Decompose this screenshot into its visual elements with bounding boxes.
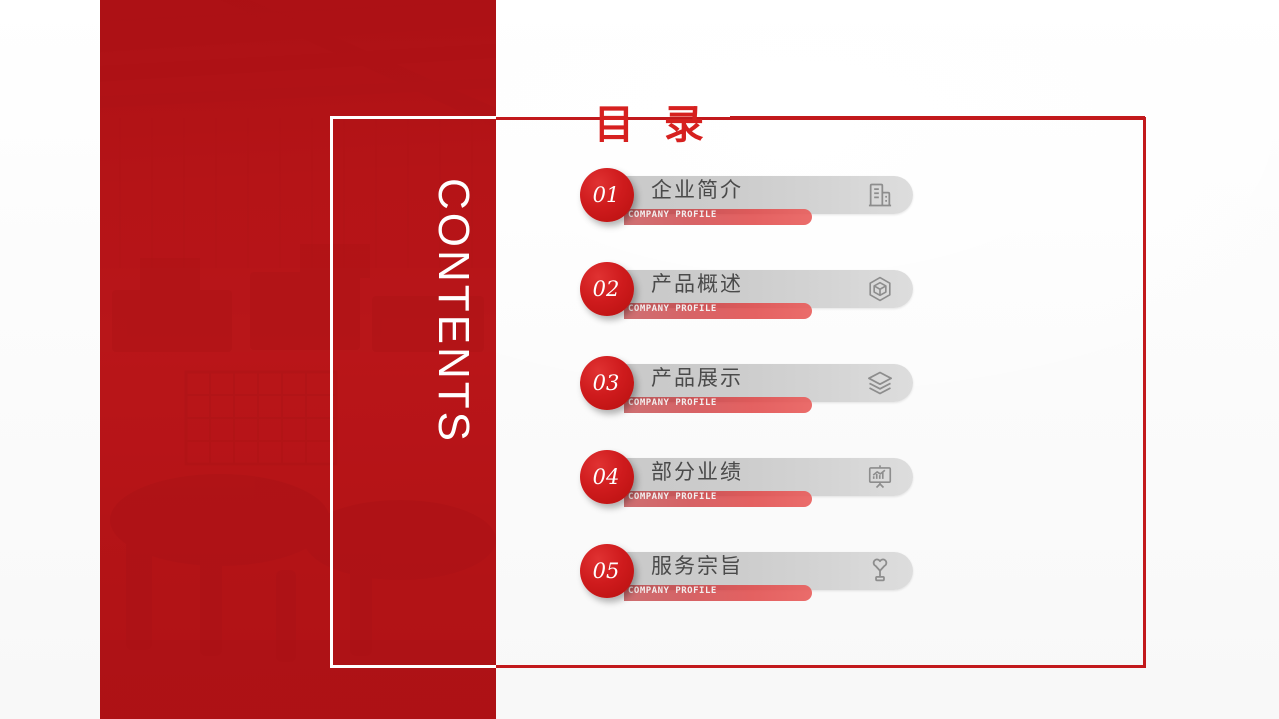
layers-icon	[866, 369, 894, 397]
list-item-number-badge: 02	[580, 262, 634, 316]
list-item-number: 04	[593, 465, 622, 489]
list-item-subtitle: COMPANY PROFILE	[628, 492, 717, 502]
list-item[interactable]: 产品展示 COMPANY PROFILE 03	[496, 356, 1279, 450]
list-item-number-badge: 05	[580, 544, 634, 598]
toc-list: 企业简介 COMPANY PROFILE 01	[496, 168, 1279, 638]
slide-canvas: CONTENTS 目 录 企业简介 COMPANY PROFILE	[0, 0, 1279, 719]
list-item[interactable]: 产品概述 COMPANY PROFILE 02	[496, 262, 1279, 356]
page-title: 目 录	[594, 92, 712, 150]
content-area: 目 录 企业简介 COMPANY PROFILE 01	[496, 0, 1279, 719]
list-item-number: 03	[593, 371, 622, 395]
list-item-subtitle: COMPANY PROFILE	[628, 586, 717, 596]
contents-vertical-label: CONTENTS	[414, 178, 478, 444]
list-item-title: 企业简介	[651, 174, 743, 204]
heart-award-icon	[866, 557, 894, 585]
package-box-icon	[866, 275, 894, 303]
list-item-title: 部分业绩	[651, 456, 743, 486]
presentation-chart-icon	[866, 463, 894, 491]
list-item-number-badge: 01	[580, 168, 634, 222]
building-icon	[866, 181, 894, 209]
list-item-number: 01	[593, 183, 622, 207]
list-item[interactable]: 服务宗旨 COMPANY PROFILE 05	[496, 544, 1279, 638]
list-item-number-badge: 04	[580, 450, 634, 504]
list-item-subtitle: COMPANY PROFILE	[628, 398, 717, 408]
list-item-number-badge: 03	[580, 356, 634, 410]
list-item[interactable]: 企业简介 COMPANY PROFILE 01	[496, 168, 1279, 262]
list-item-title: 产品概述	[651, 268, 743, 298]
list-item-number: 05	[593, 559, 622, 583]
list-item-title: 产品展示	[651, 362, 743, 392]
list-item-title: 服务宗旨	[651, 550, 743, 580]
list-item-subtitle: COMPANY PROFILE	[628, 304, 717, 314]
title-divider-line	[730, 116, 1145, 119]
list-item[interactable]: 部分业绩 COMPANY PROFILE 04	[496, 450, 1279, 544]
list-item-number: 02	[593, 277, 622, 301]
list-item-subtitle: COMPANY PROFILE	[628, 210, 717, 220]
